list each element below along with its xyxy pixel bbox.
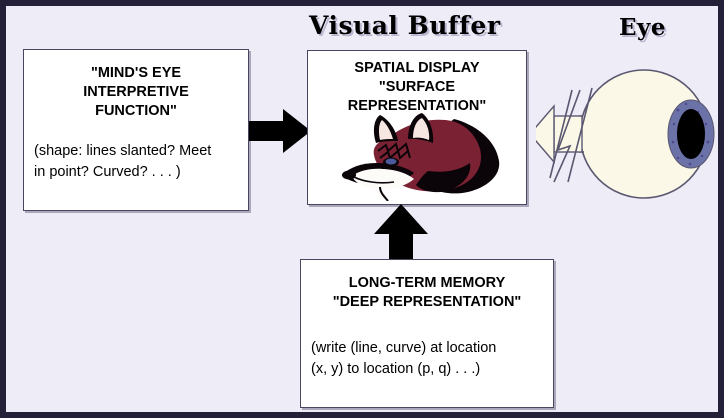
eye-illustration [536,54,724,214]
box-spatial-display-title: SPATIAL DISPLAY "SURFACE REPRESENTATION" [308,51,526,116]
arrow-right-icon [249,107,311,155]
box-long-term-memory-body: (write (line, curve) at location (x, y) … [301,312,553,380]
box-minds-eye-title: "MIND'S EYE INTERPRETIVE FUNCTION" [24,50,248,121]
box-minds-eye: "MIND'S EYE INTERPRETIVE FUNCTION" (shap… [23,49,249,211]
fox-head-mascot-icon [336,113,502,201]
box-long-term-memory: LONG-TERM MEMORY "DEEP REPRESENTATION" (… [300,259,554,408]
box-minds-eye-body: (shape: lines slanted? Meet in point? Cu… [24,121,248,183]
box-spatial-display: SPATIAL DISPLAY "SURFACE REPRESENTATION" [307,50,527,205]
arrow-up-icon [374,204,428,262]
box-long-term-memory-title: LONG-TERM MEMORY "DEEP REPRESENTATION" [301,260,553,312]
page-title-visual-buffer: Visual Buffer [309,11,501,40]
diagram-canvas: Visual Buffer Eye "MIND'S EYE INTERPRETI… [0,0,724,418]
page-title-eye: Eye [619,14,666,41]
